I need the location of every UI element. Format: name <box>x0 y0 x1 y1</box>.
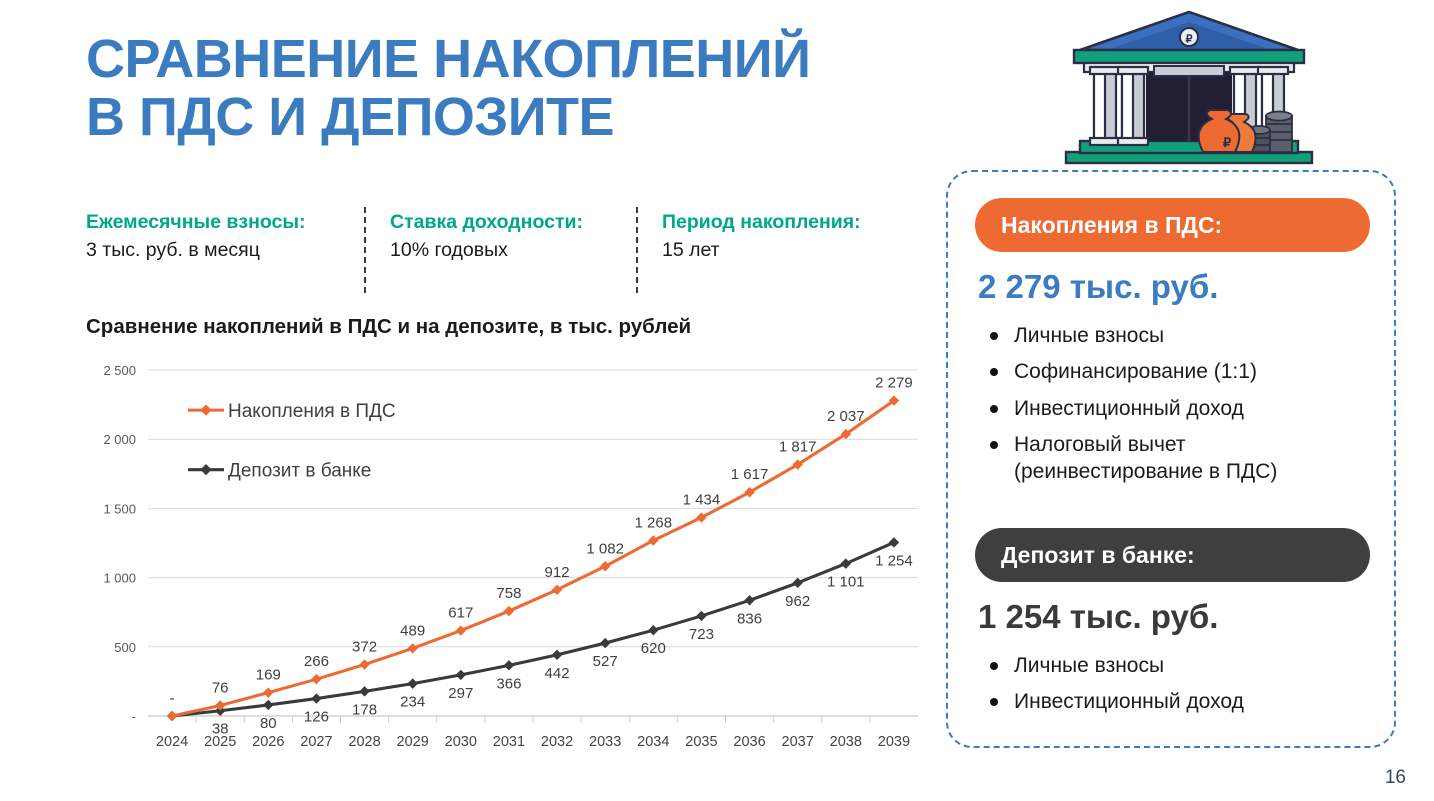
bank-building-icon: ₽ <box>1058 4 1320 170</box>
parameter-return-rate: Ставка доходности: 10% годовых <box>364 210 636 265</box>
chart-data-marker <box>889 537 899 547</box>
x-axis-tick-label: 2024 <box>156 734 188 750</box>
amount-bank-deposit: 1 254 тыс. руб. <box>978 598 1218 636</box>
svg-text:₽: ₽ <box>1186 34 1193 46</box>
chart-data-label: 1 817 <box>779 439 817 456</box>
bullets-deposit: Личные взносы Инвестиционный доход <box>978 652 1378 725</box>
chart-data-marker <box>504 606 514 616</box>
x-axis-tick-label: 2030 <box>445 734 477 750</box>
badge-pds-savings: Накопления в ПДС: <box>975 198 1370 252</box>
chart-data-label: 1 254 <box>875 552 913 569</box>
chart-data-label: 912 <box>545 564 570 581</box>
parameter-accumulation-period: Период накопления: 15 лет <box>636 210 926 265</box>
parameter-label: Ежемесячные взносы: <box>86 210 342 235</box>
chart-data-marker <box>407 678 417 688</box>
bullets-pds: Личные взносы Софинансирование (1:1) Инв… <box>978 322 1378 494</box>
chart-data-label: 1 101 <box>827 574 865 591</box>
parameter-label: Ставка доходности: <box>390 210 614 235</box>
list-item: Инвестиционный доход <box>978 688 1378 715</box>
chart-data-marker <box>263 700 273 710</box>
chart-data-label: 169 <box>256 667 281 684</box>
list-item: Инвестиционный доход <box>978 395 1378 422</box>
x-axis-tick-label: 2029 <box>397 734 429 750</box>
bullet-text: Инвестиционный доход <box>1014 690 1244 713</box>
x-axis-tick-label: 2033 <box>589 734 621 750</box>
chart-data-label: 38 <box>212 721 229 738</box>
y-axis-tick-label: 1 000 <box>103 571 136 586</box>
bullet-text: Личные взносы <box>1014 654 1164 677</box>
chart-data-label: 962 <box>785 593 810 610</box>
chart-data-label: 80 <box>260 715 277 732</box>
parameter-value: 15 лет <box>662 237 904 264</box>
y-axis-tick-label: 2 500 <box>103 363 136 378</box>
slide-root: СРАВНЕНИЕ НАКОПЛЕНИЙ В ПДС И ДЕПОЗИТЕ Еж… <box>0 0 1434 801</box>
legend-label: Депозит в банке <box>228 461 371 482</box>
chart-data-label: 723 <box>689 626 714 643</box>
chart-data-marker <box>407 643 417 653</box>
chart-data-label: 1 268 <box>635 515 673 532</box>
chart-data-marker <box>696 611 706 621</box>
chart-data-marker <box>359 686 369 696</box>
bullet-text: Личные взносы <box>1014 324 1164 347</box>
chart-data-label: 297 <box>448 685 473 702</box>
chart-data-marker <box>167 711 177 721</box>
chart-data-marker <box>311 693 321 703</box>
y-axis-tick-label: 1 500 <box>103 501 136 516</box>
bullet-text: Инвестиционный доход <box>1014 397 1244 420</box>
chart-data-marker <box>311 674 321 684</box>
chart-data-label: 1 434 <box>683 492 721 509</box>
page-title-line-2: В ПДС И ДЕПОЗИТЕ <box>86 88 926 146</box>
page-title-line-1: СРАВНЕНИЕ НАКОПЛЕНИЙ <box>86 30 926 88</box>
legend-marker <box>200 464 211 475</box>
amount-pds-savings: 2 279 тыс. руб. <box>978 268 1218 306</box>
list-item: Личные взносы <box>978 652 1378 679</box>
x-axis-tick-label: 2031 <box>493 734 525 750</box>
x-axis-tick-label: 2035 <box>685 734 717 750</box>
legend-label: Накопления в ПДС <box>228 401 396 422</box>
chart-data-label: 2 279 <box>875 375 913 392</box>
chart-data-label: 758 <box>496 585 521 602</box>
x-axis-tick-label: 2034 <box>637 734 669 750</box>
chart-data-label: 836 <box>737 610 762 627</box>
chart-title: Сравнение накоплений в ПДС и на депозите… <box>86 315 691 339</box>
page-number: 16 <box>1385 767 1406 789</box>
chart-data-marker <box>552 650 562 660</box>
chart-data-marker <box>456 670 466 680</box>
chart-data-label: 620 <box>641 640 666 657</box>
savings-comparison-chart: -5001 0001 5002 0002 5002024202520262027… <box>80 358 930 758</box>
chart-data-marker <box>504 660 514 670</box>
chart-data-marker <box>359 659 369 669</box>
x-axis-tick-label: 2039 <box>878 734 910 750</box>
parameters-strip: Ежемесячные взносы: 3 тыс. руб. в месяц … <box>86 210 926 265</box>
chart-data-label: 1 082 <box>586 540 624 557</box>
parameter-value: 3 тыс. руб. в месяц <box>86 237 342 264</box>
chart-data-marker <box>552 585 562 595</box>
chart-data-label: 617 <box>448 605 473 622</box>
chart-data-label: 266 <box>304 653 329 670</box>
bullet-text-second-line: (реинвестирование в ПДС) <box>1014 458 1378 485</box>
parameter-value: 10% годовых <box>390 237 614 264</box>
list-item: Личные взносы <box>978 322 1378 349</box>
summary-panel: Накопления в ПДС: 2 279 тыс. руб. Личные… <box>946 170 1396 748</box>
chart-data-label: 442 <box>545 665 570 682</box>
parameter-label: Период накопления: <box>662 210 904 235</box>
chart-data-label: 1 617 <box>731 466 769 483</box>
x-axis-tick-label: 2026 <box>252 734 284 750</box>
x-axis-tick-label: 2037 <box>782 734 814 750</box>
x-axis-tick-label: 2028 <box>348 734 380 750</box>
x-axis-tick-label: 2027 <box>300 734 332 750</box>
chart-data-marker <box>841 558 851 568</box>
y-axis-tick-label: - <box>132 709 136 724</box>
chart-data-marker <box>263 687 273 697</box>
y-axis-tick-label: 2 000 <box>103 432 136 447</box>
bullet-text: Налоговый вычет <box>1014 433 1186 456</box>
chart-data-label: 178 <box>352 701 377 718</box>
page-title: СРАВНЕНИЕ НАКОПЛЕНИЙ В ПДС И ДЕПОЗИТЕ <box>86 30 926 147</box>
x-axis-tick-label: 2038 <box>830 734 862 750</box>
chart-data-label: 2 037 <box>827 408 865 425</box>
chart-data-label: 372 <box>352 639 377 656</box>
chart-data-label: 489 <box>400 622 425 639</box>
x-axis-tick-label: 2032 <box>541 734 573 750</box>
list-item: Софинансирование (1:1) <box>978 358 1378 385</box>
chart-data-marker <box>456 625 466 635</box>
chart-data-label: 76 <box>212 679 229 696</box>
chart-data-label: 366 <box>496 675 521 692</box>
chart-data-label: 126 <box>304 709 329 726</box>
legend-marker <box>200 405 211 416</box>
chart-data-label: 527 <box>593 653 618 670</box>
badge-bank-deposit: Депозит в банке: <box>975 528 1370 582</box>
chart-data-marker <box>792 578 802 588</box>
y-axis-tick-label: 500 <box>114 640 136 655</box>
chart-data-marker <box>744 595 754 605</box>
chart-data-marker <box>648 625 658 635</box>
chart-data-label: - <box>170 690 175 707</box>
x-axis-tick-label: 2036 <box>733 734 765 750</box>
chart-svg: -5001 0001 5002 0002 5002024202520262027… <box>80 358 930 758</box>
parameter-monthly-contribution: Ежемесячные взносы: 3 тыс. руб. в месяц <box>86 210 364 265</box>
list-item: Налоговый вычет (реинвестирование в ПДС) <box>978 431 1378 486</box>
bullet-text: Софинансирование (1:1) <box>1014 360 1257 383</box>
chart-data-label: 234 <box>400 694 425 711</box>
svg-text:₽: ₽ <box>1223 135 1232 150</box>
